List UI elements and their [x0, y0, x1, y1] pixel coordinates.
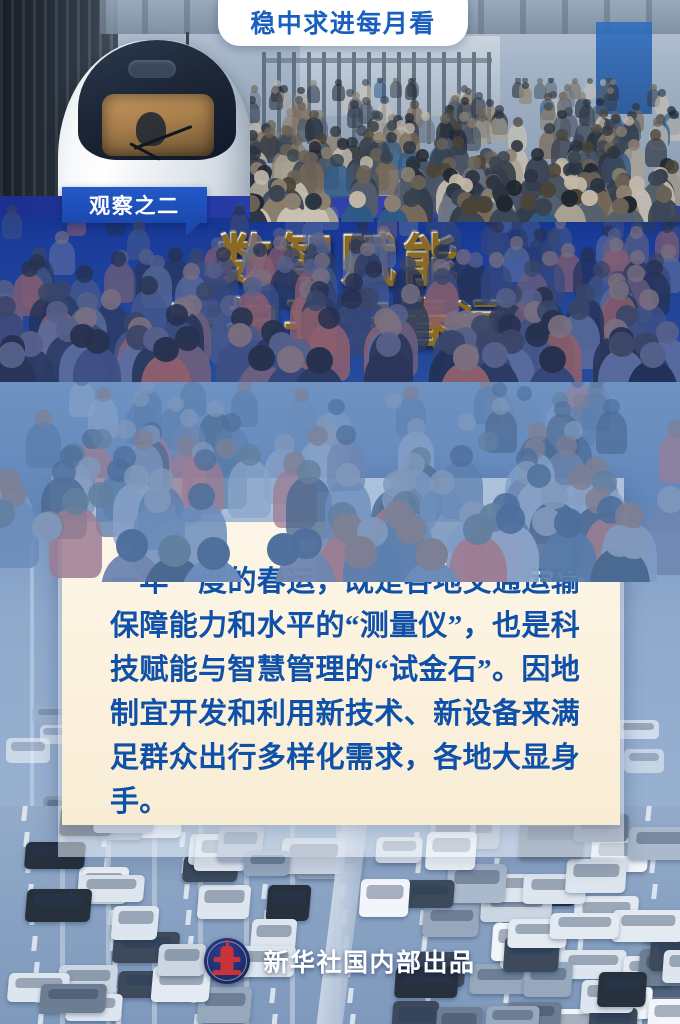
series-badge-label: 稳中求进每月看 [250, 4, 436, 40]
train-windshield [102, 94, 214, 156]
episode-tag[interactable]: 观察之二 [62, 187, 207, 223]
episode-tag-pointer [186, 223, 200, 236]
middle-crowd-photo [0, 382, 680, 582]
platform-crowd [250, 78, 680, 222]
poster: 数智赋能 守护平安春运 稳中求进每月看 观察之二 一年一度的春运，既是各地交通运… [0, 0, 680, 1024]
note-card-body: 一年一度的春运，既是各地交通运输保障能力和水平的“测量仪”，也是科技赋能与智慧管… [110, 560, 580, 824]
footer-credit: 新华社国内部出品 [263, 943, 475, 979]
footer: 新华社国内部出品 [0, 938, 680, 984]
logo-tower-emblem [221, 946, 234, 971]
episode-tag-label: 观察之二 [89, 190, 180, 220]
xinhua-logo-icon [204, 938, 250, 984]
series-badge[interactable]: 稳中求进每月看 [218, 0, 468, 46]
train-headlamp [128, 60, 176, 78]
logo-base [213, 970, 241, 975]
